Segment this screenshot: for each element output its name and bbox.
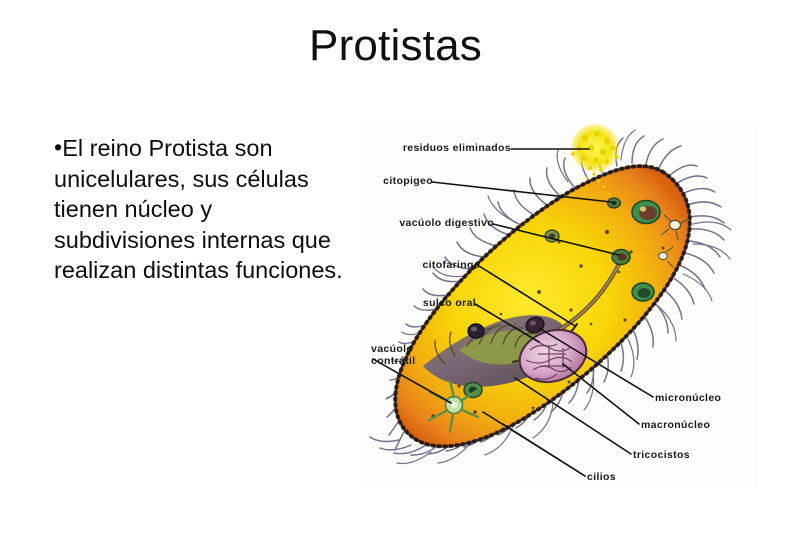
bullet-marker: • [54,134,62,160]
food-vacuole [468,324,484,338]
label-vacuolo-contratil-line2: contrátil [371,355,416,367]
page-title: Protistas [0,22,791,70]
label-vacuolo-contratil: vacúolo contrátil [371,343,451,368]
food-vacuole [464,383,482,398]
body-bullet-paragraph: •El reino Protista son unicelulares, sus… [54,133,354,286]
label-tricocistos: tricocistos [633,449,690,461]
body-text-content: El reino Protista son unicelulares, sus … [54,135,343,283]
label-sulco-oral: sulco oral [363,297,476,309]
food-vacuole [632,201,660,224]
food-vacuole [632,283,654,301]
food-vacuole [612,250,630,265]
paramecium-figure: residuos eliminados citopigeo vacúolo di… [363,124,759,488]
label-citofaringe: citofaringe [363,259,480,271]
label-macronucleo: macronúcleo [641,419,710,431]
label-residuos-eliminados: residuos eliminados [363,142,511,154]
label-vacuolo-digestivo: vacúolo digestivo [363,217,494,229]
cytoproct [608,198,621,208]
label-vacuolo-contratil-line1: vacúolo [371,343,413,355]
label-citopigeo: citopigeo [363,175,433,187]
label-cilios: cilios [587,471,616,483]
label-micronucleo: micronúcleo [655,392,721,404]
